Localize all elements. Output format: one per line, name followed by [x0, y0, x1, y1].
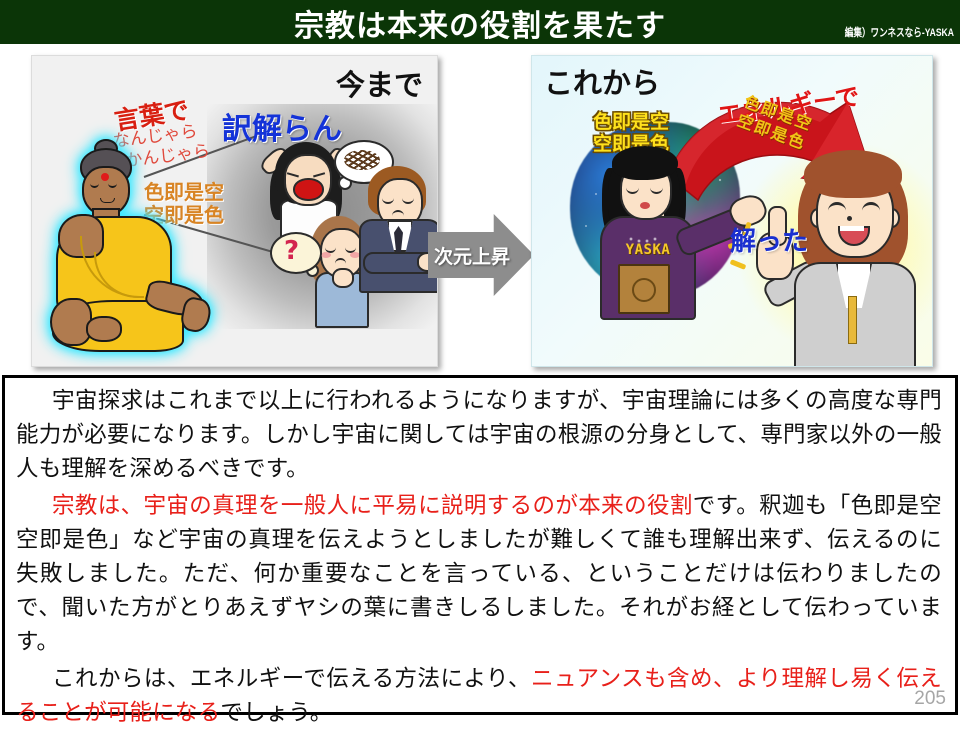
slide-root: 宗教は本来の役割を果たす 編集）ワンネスなら-YASKA 今まで 言葉で なんじ…: [0, 0, 960, 720]
credit-label: 編集）ワンネスなら-YASKA: [845, 24, 954, 40]
thinking-girl-hand: [332, 268, 354, 288]
buddha-figure: [50, 148, 200, 353]
buddha-knee: [50, 298, 92, 346]
right-panel-corner-label: これから: [544, 60, 660, 102]
content-divider: [2, 375, 958, 378]
page-number: 205: [914, 688, 946, 710]
listening-woman-eye-left: [828, 202, 846, 216]
wakaran-label: 訳解らん: [222, 104, 342, 148]
paragraph-1: 宇宙探求はこれまで以上に行われるようになりますが、宇宙理論には多くの高度な専門能…: [16, 384, 942, 486]
book-seal-icon: [632, 278, 656, 302]
listening-woman-eye-right: [862, 202, 880, 216]
right-sutra-line1: 色即是空: [593, 112, 669, 134]
frame-right-border: [955, 375, 958, 715]
paragraph-2-highlight: 宗教は、宇宙の真理を一般人に平易に説明するのが本来の役割: [52, 493, 693, 519]
spark-icon-3: [730, 259, 747, 270]
speaker-woman-mouth: [640, 202, 650, 209]
dimension-ascension-arrow: 次元上昇: [428, 214, 534, 296]
scribble-icon: [344, 150, 380, 170]
buddha-urna-dot: [101, 173, 109, 181]
paragraph-3-tail: でしょう。: [220, 700, 332, 726]
businessman-mouth: [392, 210, 404, 217]
thinking-girl-mouth: [335, 258, 346, 265]
speaker-woman-bangs: [612, 146, 678, 180]
thinking-girl-blush-left: [321, 252, 331, 258]
screaming-woman-mouth: [293, 178, 324, 201]
frame-left-border: [2, 375, 5, 715]
paragraph-2: 宗教は、宇宙の真理を一般人に平易に説明するのが本来の役割です。釈迦も「色即是空空…: [16, 489, 942, 659]
slide-header: 宗教は本来の役割を果たす 編集）ワンネスなら-YASKA: [0, 0, 960, 44]
left-panel-corner-label: 今まで: [336, 62, 423, 104]
buddha-hand-left: [86, 316, 122, 342]
left-illustration-panel: 今まで 言葉で なんじゃらかんじゃら 色即是空 空即是色 訳解らん: [31, 55, 438, 367]
question-mark-icon: ?: [284, 236, 308, 266]
wakatta-label: 解った: [730, 221, 808, 258]
illustration-band: 今まで 言葉で なんじゃらかんじゃら 色即是空 空即是色 訳解らん: [0, 44, 960, 376]
dimension-ascension-label: 次元上昇: [434, 242, 510, 269]
paragraph-3-lead: これからは、エネルギーで伝える方法により、: [52, 666, 531, 692]
listening-woman-nose: [847, 216, 852, 221]
body-text-block: 宇宙探求はこれまで以上に行われるようになりますが、宇宙理論には多くの高度な専門能…: [16, 384, 942, 733]
right-illustration-panel: これから エネルギーで 色即是空 空即是色 色即是空 空即是色: [531, 55, 933, 367]
listening-woman-bangs: [804, 150, 902, 198]
page-title: 宗教は本来の役割を果たす: [0, 1, 960, 44]
listening-woman-teeth: [840, 226, 864, 231]
book-label: YASKA: [610, 242, 686, 258]
listening-woman-zipper: [848, 296, 857, 344]
